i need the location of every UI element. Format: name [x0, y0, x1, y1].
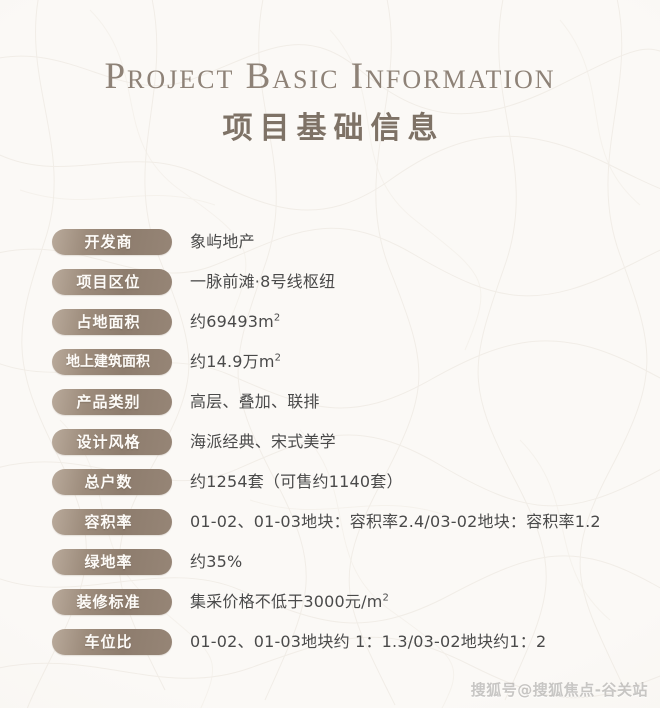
- table-row: 地上建筑面积 约14.9万m2: [52, 342, 642, 382]
- page-header: Project Basic Information 项目基础信息: [0, 56, 660, 147]
- info-value-text: 海派经典、宋式美学: [190, 432, 336, 451]
- info-value-text: 约35%: [190, 552, 242, 571]
- info-value-text: 约1254套（可售约1140套）: [190, 472, 403, 491]
- project-info-table: 开发商 象屿地产 项目区位 一脉前滩·8号线枢纽 占地面积 约69493m2 地…: [52, 222, 642, 662]
- info-value: 01-02、01-03地块约 1：1.3/03-02地块约1：2: [190, 634, 546, 650]
- info-value: 高层、叠加、联排: [190, 394, 320, 410]
- info-label-text: 产品类别: [75, 395, 140, 410]
- info-label-text: 总户数: [83, 475, 132, 490]
- info-value-text: 高层、叠加、联排: [190, 392, 320, 411]
- info-value-superscript: 2: [383, 593, 390, 604]
- info-label-pill: 地上建筑面积: [52, 349, 172, 375]
- table-row: 车位比 01-02、01-03地块约 1：1.3/03-02地块约1：2: [52, 622, 642, 662]
- info-label-pill: 设计风格: [52, 429, 172, 455]
- info-value-text: 约14.9万m: [190, 352, 275, 371]
- info-value-text: 01-02、01-03地块约 1：1.3/03-02地块约1：2: [190, 632, 546, 651]
- info-label-pill: 总户数: [52, 469, 172, 495]
- table-row: 产品类别 高层、叠加、联排: [52, 382, 642, 422]
- info-label-text: 绿地率: [83, 555, 132, 570]
- info-value: 集采价格不低于3000元/m2: [190, 594, 389, 610]
- info-value-superscript: 2: [275, 353, 282, 364]
- info-label-pill: 装修标准: [52, 589, 172, 615]
- info-label-pill: 开发商: [52, 229, 172, 255]
- info-value: 海派经典、宋式美学: [190, 434, 336, 450]
- info-value: 象屿地产: [190, 234, 255, 250]
- info-label-text: 车位比: [83, 635, 132, 650]
- source-watermark: 搜狐号@搜狐焦点-谷关站: [471, 679, 648, 700]
- info-label-text: 占地面积: [75, 315, 140, 330]
- info-value-text: 象屿地产: [190, 232, 255, 251]
- info-value: 一脉前滩·8号线枢纽: [190, 274, 335, 290]
- info-value-superscript: 2: [274, 313, 281, 324]
- page-root: Project Basic Information 项目基础信息 开发商 象屿地…: [0, 0, 660, 708]
- info-label-text: 设计风格: [75, 435, 140, 450]
- table-row: 设计风格 海派经典、宋式美学: [52, 422, 642, 462]
- table-row: 开发商 象屿地产: [52, 222, 642, 262]
- table-row: 项目区位 一脉前滩·8号线枢纽: [52, 262, 642, 302]
- info-label-text: 容积率: [83, 515, 132, 530]
- info-value-text: 01-02、01-03地块：容积率2.4/03-02地块：容积率1.2: [190, 512, 601, 531]
- info-label-pill: 绿地率: [52, 549, 172, 575]
- info-value-text: 集采价格不低于3000元/m: [190, 592, 383, 611]
- table-row: 总户数 约1254套（可售约1140套）: [52, 462, 642, 502]
- info-value: 约14.9万m2: [190, 354, 281, 370]
- info-value: 约69493m2: [190, 314, 280, 330]
- page-title-chinese: 项目基础信息: [0, 111, 660, 147]
- info-label-pill: 车位比: [52, 629, 172, 655]
- info-value: 01-02、01-03地块：容积率2.4/03-02地块：容积率1.2: [190, 514, 601, 530]
- table-row: 装修标准 集采价格不低于3000元/m2: [52, 582, 642, 622]
- info-label-pill: 容积率: [52, 509, 172, 535]
- info-label-text: 装修标准: [75, 595, 140, 610]
- info-value: 约1254套（可售约1140套）: [190, 474, 403, 490]
- info-label-pill: 占地面积: [52, 309, 172, 335]
- table-row: 占地面积 约69493m2: [52, 302, 642, 342]
- info-value: 约35%: [190, 554, 242, 570]
- info-label-pill: 项目区位: [52, 269, 172, 295]
- table-row: 容积率 01-02、01-03地块：容积率2.4/03-02地块：容积率1.2: [52, 502, 642, 542]
- info-value-text: 约69493m: [190, 312, 274, 331]
- info-label-pill: 产品类别: [52, 389, 172, 415]
- table-row: 绿地率 约35%: [52, 542, 642, 582]
- info-value-text: 一脉前滩·8号线枢纽: [190, 272, 335, 291]
- page-title-english: Project Basic Information: [0, 56, 660, 99]
- info-label-text: 地上建筑面积: [66, 355, 150, 369]
- info-label-text: 开发商: [83, 235, 132, 250]
- info-label-text: 项目区位: [75, 275, 140, 290]
